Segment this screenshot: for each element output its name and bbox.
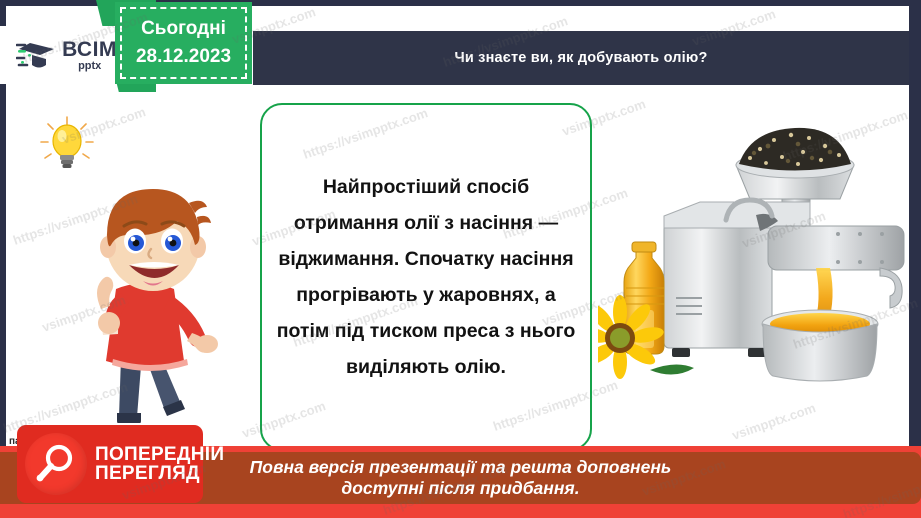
presentation-slide: Найпростіший спосіб отримання олії з нас… — [0, 0, 921, 518]
graduation-cap-icon — [16, 38, 58, 72]
preview-badge-line1: ПОПЕРЕДНІЙ — [95, 445, 224, 464]
main-text: Найпростіший спосіб отримання олії з нас… — [276, 169, 576, 385]
brand-logo: ВСІМ pptx — [0, 26, 133, 84]
page-title: Чи знаєте ви, як добувають олію? — [454, 50, 707, 66]
main-text-card: Найпростіший спосіб отримання олії з нас… — [260, 103, 592, 451]
preview-message-line2: доступні після придбання. — [341, 478, 579, 499]
oil-press-machine-photo — [598, 102, 909, 392]
date-badge-label: Сьогодні — [141, 15, 226, 43]
logo-title: ВСІМ — [62, 39, 117, 60]
magnifier-icon — [25, 433, 87, 495]
date-badge: Сьогодні 28.12.2023 — [115, 2, 252, 84]
preview-badge-line2: ПЕРЕГЛЯД — [95, 464, 224, 483]
slide-header-bar: Чи знаєте ви, як добувають олію? — [253, 31, 909, 85]
logo-subtitle: pptx — [78, 61, 101, 72]
cartoon-boy-illustration — [61, 161, 231, 423]
preview-message-line1: Повна версія презентації та решта доповн… — [250, 457, 672, 478]
date-badge-value: 28.12.2023 — [136, 43, 231, 71]
preview-badge[interactable]: ПОПЕРЕДНІЙ ПЕРЕГЛЯД — [17, 425, 203, 503]
